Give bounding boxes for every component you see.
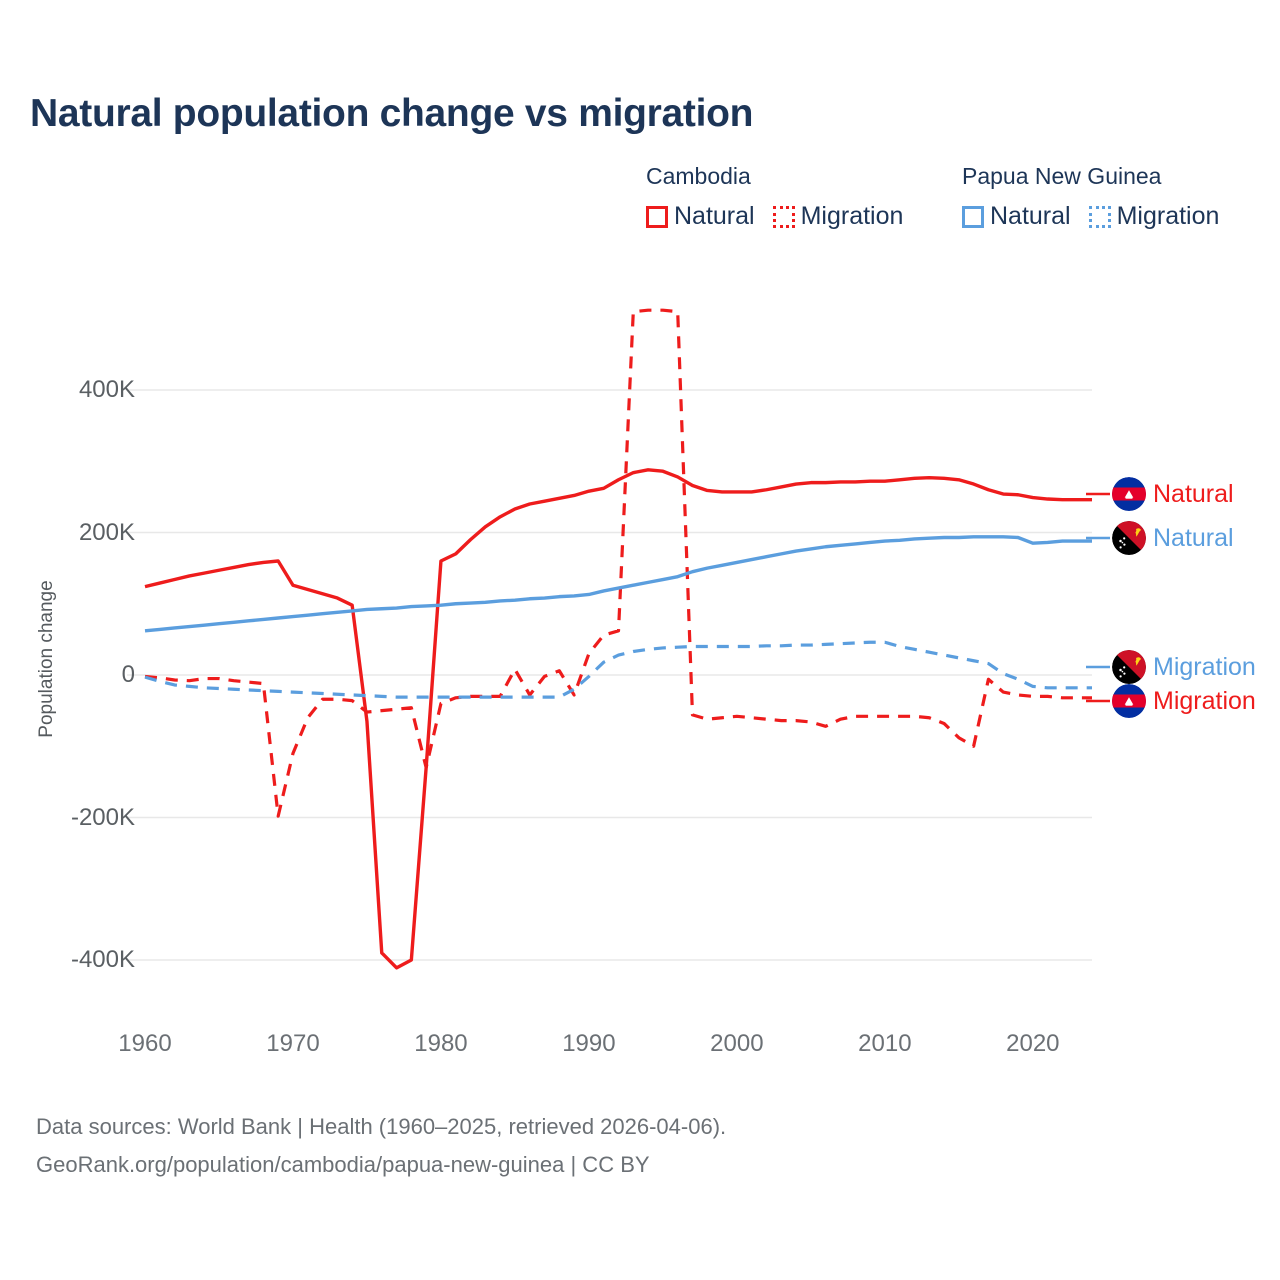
line-chart-plot — [0, 0, 1280, 1280]
series-end-label[interactable]: Migration — [1112, 684, 1256, 718]
series-end-label-text: Migration — [1153, 653, 1256, 682]
chart-page: Natural population change vs migration C… — [0, 0, 1280, 1280]
cambodia-flag-icon — [1112, 477, 1146, 511]
papua-new-guinea-flag-icon — [1112, 650, 1146, 684]
x-axis-tick-label: 1990 — [562, 1030, 615, 1058]
series-line-papua-new-guinea-migration — [145, 642, 1092, 697]
papua-new-guinea-flag-icon — [1112, 521, 1146, 555]
series-end-label[interactable]: Natural — [1112, 477, 1234, 511]
series-end-label[interactable]: Migration — [1112, 650, 1256, 684]
y-axis-tick-label: -400K — [25, 946, 135, 974]
x-axis-tick-label: 1960 — [118, 1030, 171, 1058]
cambodia-flag-icon — [1112, 684, 1146, 718]
x-axis-tick-label: 1980 — [414, 1030, 467, 1058]
series-line-cambodia-natural — [145, 470, 1092, 968]
y-axis-label: Population change — [36, 549, 58, 769]
series-end-label-text: Natural — [1153, 480, 1234, 509]
x-axis-tick-label: 2000 — [710, 1030, 763, 1058]
chart-footer: Data sources: World Bank | Health (1960–… — [36, 1108, 726, 1184]
x-axis-tick-label: 1970 — [266, 1030, 319, 1058]
footer-line-attribution: GeoRank.org/population/cambodia/papua-ne… — [36, 1146, 726, 1184]
series-end-label-text: Migration — [1153, 687, 1256, 716]
y-axis-tick-label: -200K — [25, 804, 135, 832]
x-axis-tick-label: 2020 — [1006, 1030, 1059, 1058]
y-axis-tick-label: 200K — [25, 519, 135, 547]
x-axis-tick-label: 2010 — [858, 1030, 911, 1058]
footer-line-sources: Data sources: World Bank | Health (1960–… — [36, 1108, 726, 1146]
series-line-cambodia-migration — [145, 310, 1092, 816]
series-end-label[interactable]: Natural — [1112, 521, 1234, 555]
series-end-label-text: Natural — [1153, 524, 1234, 553]
y-axis-tick-label: 400K — [25, 376, 135, 404]
